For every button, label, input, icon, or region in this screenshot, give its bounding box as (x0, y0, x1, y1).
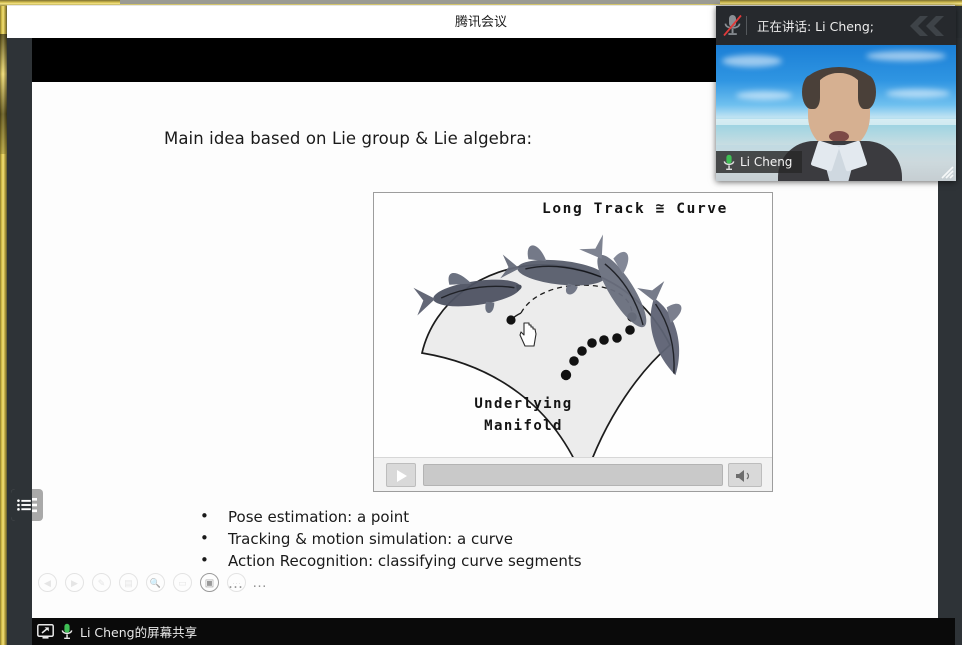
cloud-decor (866, 51, 946, 61)
screen-share-icon (37, 624, 54, 639)
manifold-label-line1: Underlying (474, 396, 572, 412)
zoom-button[interactable]: 🔍 (146, 573, 165, 592)
blank-screen-button[interactable]: ▭ (173, 573, 192, 592)
video-player-controls[interactable] (374, 457, 773, 491)
desktop-left-edge-shading (0, 34, 7, 154)
next-slide-icon: ▶ (66, 574, 83, 591)
list-item: Pose estimation: a point (192, 507, 582, 528)
play-icon[interactable] (386, 463, 416, 487)
desktop-top-edge-grey (120, 0, 720, 4)
avatar-hair-right (858, 75, 876, 109)
list-item: Tracking & motion simulation: a curve (192, 529, 582, 550)
mic-muted-icon[interactable] (716, 6, 746, 45)
slide-title: Main idea based on Lie group & Lie algeb… (164, 129, 532, 148)
pen-tool-icon: ✎ (93, 574, 110, 591)
blank-screen-icon: ▭ (174, 574, 191, 591)
embedded-video-figure[interactable]: Long Track ≅ Curve (373, 192, 773, 492)
camera-icon: ▣ (201, 574, 218, 591)
more-options-icon: ⋯ (228, 574, 245, 591)
list-menu-left-shade (11, 489, 32, 521)
participant-name: Li Cheng (740, 155, 792, 169)
pen-tool-button[interactable]: ✎ (92, 573, 111, 592)
status-bar-left-gutter (7, 618, 32, 645)
resize-grip-icon[interactable] (938, 163, 954, 179)
cloud-decor (886, 89, 950, 98)
manifold-label: Underlying Manifold (436, 393, 611, 437)
screen-share-left-gutter (7, 38, 32, 618)
participant-video-panel[interactable]: 正在讲话: Li Cheng; (716, 6, 956, 181)
mic-active-icon (61, 623, 73, 640)
all-slides-button[interactable]: ▤ (119, 573, 138, 592)
participant-video-feed[interactable]: Li Cheng (716, 45, 956, 181)
collapse-right-icon[interactable] (906, 15, 950, 37)
all-slides-icon: ▤ (120, 574, 137, 591)
header-divider (746, 16, 747, 35)
mic-active-icon (723, 154, 735, 171)
presenter-controls-bar[interactable]: ◀ ▶ ✎ ▤ 🔍 ▭ ▣ ⋯ … (32, 568, 252, 596)
previous-slide-button[interactable]: ◀ (38, 573, 57, 592)
cloud-decor (722, 55, 782, 67)
camera-button[interactable]: ▣ (200, 573, 219, 592)
avatar-hair-left (802, 75, 820, 109)
presenter-ellipsis: … (252, 573, 268, 592)
share-status-bar: Li Cheng的屏幕共享 (7, 618, 955, 645)
speaking-status-label: 正在讲话: Li Cheng; (757, 16, 874, 35)
manifold-label-line2: Manifold (484, 418, 563, 434)
more-options-button[interactable]: ⋯ (227, 573, 246, 592)
previous-slide-icon: ◀ (39, 574, 56, 591)
share-status-label: Li Cheng的屏幕共享 (80, 622, 197, 641)
manifold-illustration (374, 193, 773, 492)
next-slide-button[interactable]: ▶ (65, 573, 84, 592)
screen-root: 腾讯会议 Main idea based on Lie group & Lie … (0, 0, 962, 645)
video-panel-header[interactable]: 正在讲话: Li Cheng; (716, 6, 956, 45)
magnifier-icon: 🔍 (147, 574, 164, 591)
volume-icon[interactable] (728, 463, 762, 487)
participant-name-badge: Li Cheng (716, 151, 802, 173)
video-progress-bar[interactable] (423, 464, 723, 486)
list-menu-glyph-shaded (17, 497, 33, 513)
cloud-decor (736, 91, 792, 100)
